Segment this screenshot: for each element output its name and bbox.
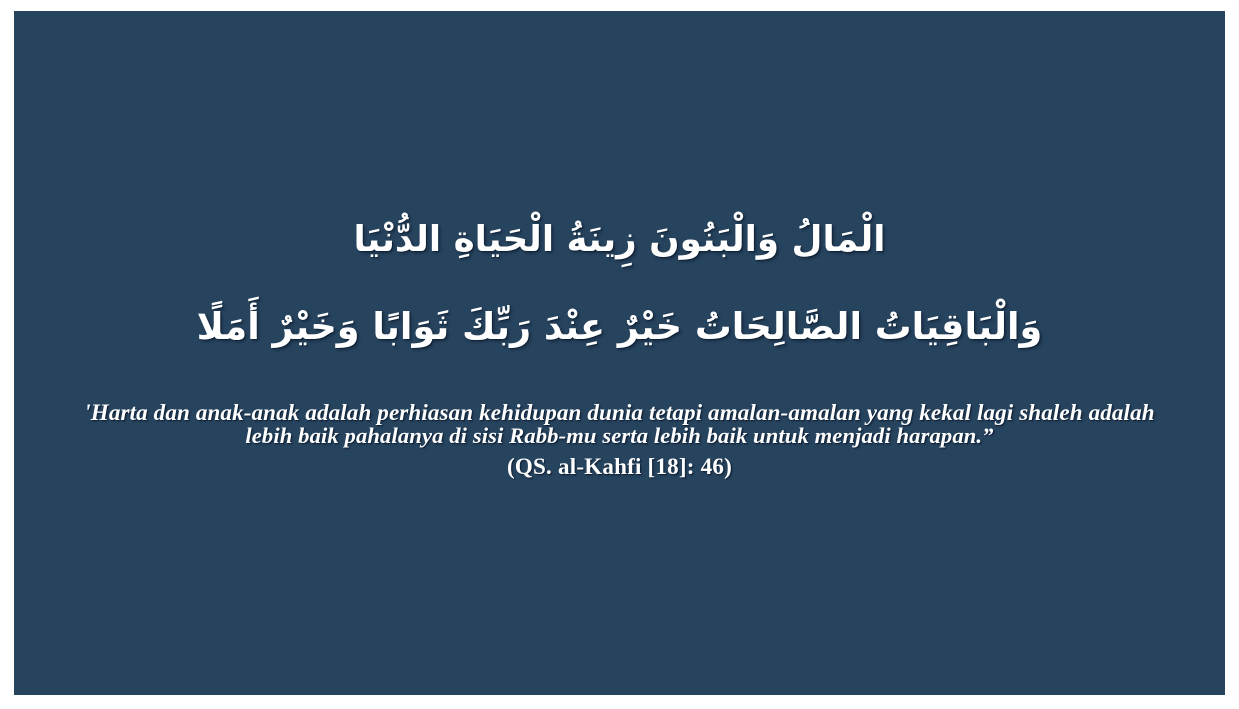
slide-frame: الْمَالُ وَالْبَنُونَ زِينَةُ الْحَيَاةِ… — [0, 0, 1239, 709]
arabic-verse-line-2: وَالْبَاقِيَاتُ الصَّالِحَاتُ خَيْرٌ عِن… — [14, 300, 1225, 353]
translation-line-2: lebih baik pahalanya di sisi Rabb-mu ser… — [75, 424, 1165, 448]
quran-citation: (QS. al-Kahfi [18]: 46) — [14, 454, 1225, 478]
slide-background-panel: الْمَالُ وَالْبَنُونَ زِينَةُ الْحَيَاةِ… — [14, 11, 1225, 695]
arabic-verse-line-1: الْمَالُ وَالْبَنُونَ زِينَةُ الْحَيَاةِ… — [14, 214, 1225, 266]
translation-line-1: 'Harta dan anak-anak adalah perhiasan ke… — [75, 400, 1165, 424]
translation-block: 'Harta dan anak-anak adalah perhiasan ke… — [75, 400, 1165, 448]
